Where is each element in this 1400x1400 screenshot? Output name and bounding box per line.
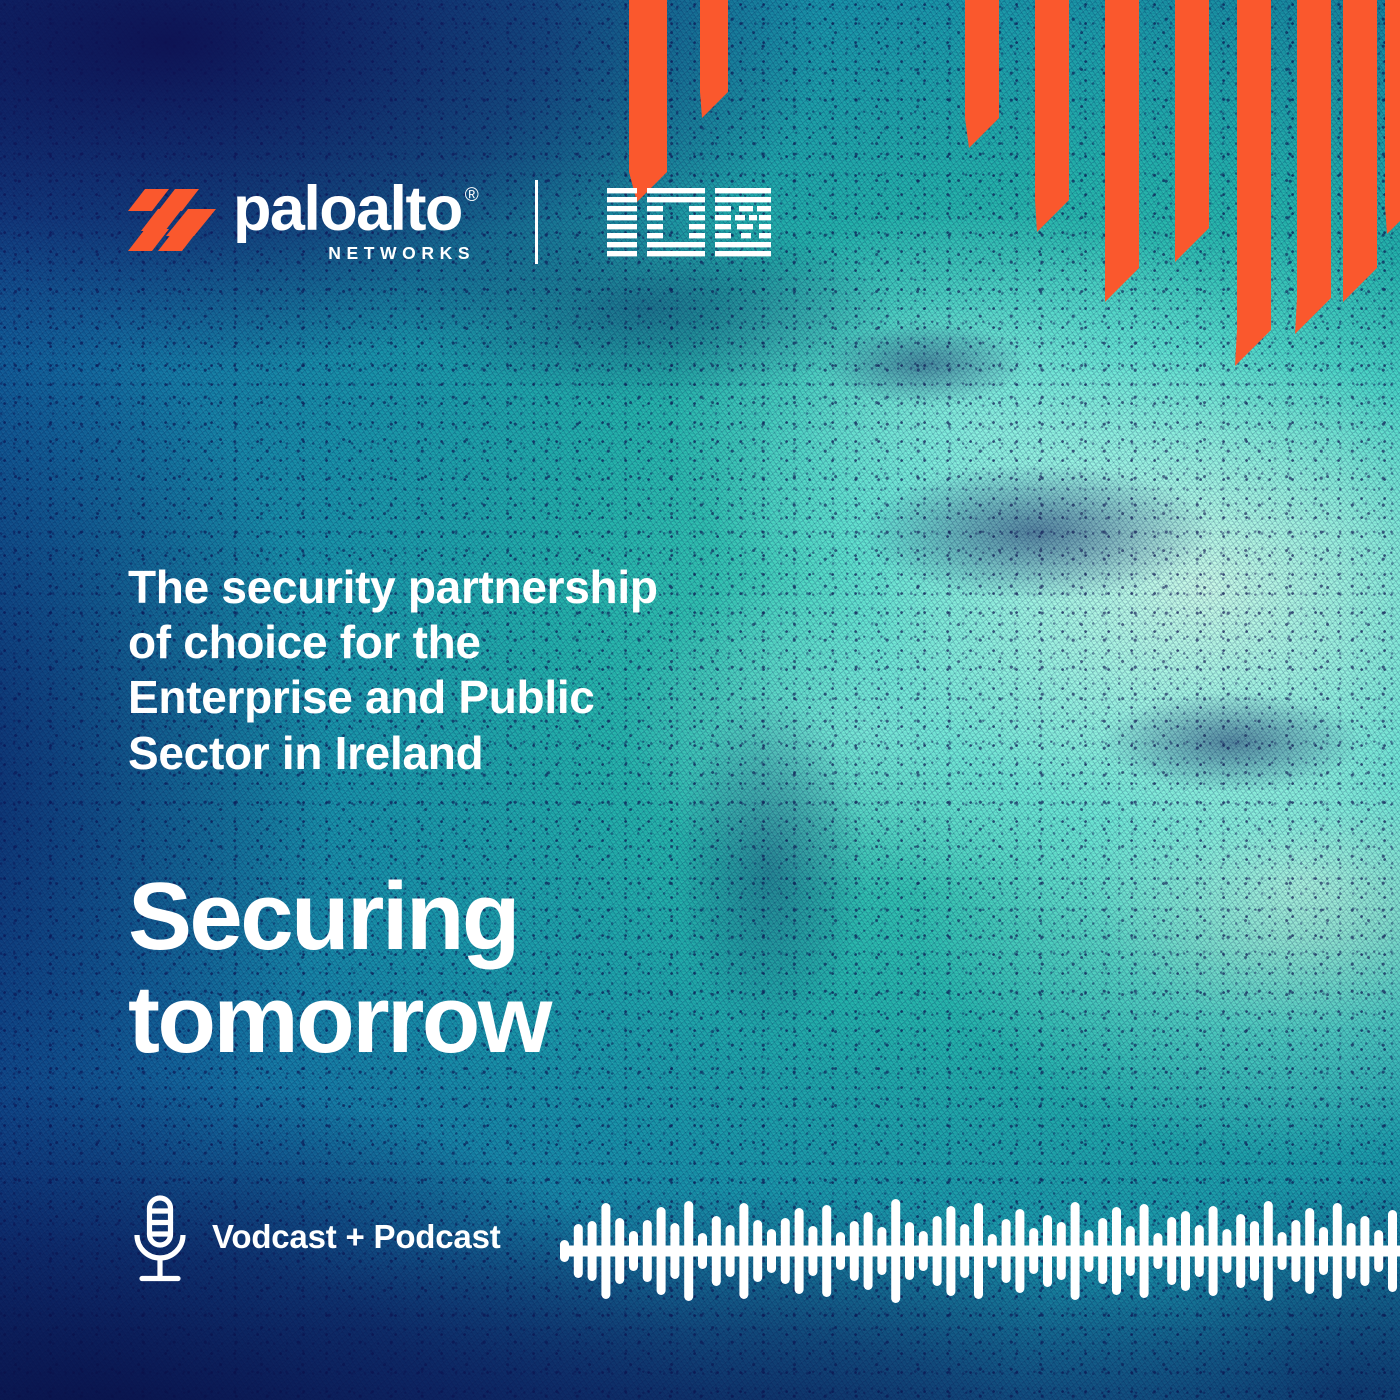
waveform-bar (726, 1225, 735, 1277)
waveform-bar (1112, 1207, 1121, 1295)
waveform-bar (657, 1207, 666, 1295)
subheadline-line-1: The security partnership (128, 560, 828, 615)
palo-alto-wordmark-group: paloalto ® NETWORKS (233, 180, 477, 263)
palo-alto-chevron-mark (128, 189, 216, 251)
ibm-logo (599, 186, 773, 258)
waveform-bar (753, 1220, 762, 1282)
waveform-bar (1071, 1202, 1080, 1300)
ibm-stripe (737, 224, 753, 229)
waveform-bar (1029, 1228, 1038, 1274)
ibm-stripe (715, 206, 731, 211)
waveform-bar (781, 1218, 790, 1284)
ibm-stripe (689, 233, 705, 238)
ibm-stripe (759, 215, 771, 220)
subheadline-line-2: of choice for the (128, 615, 828, 670)
logo-lockup: paloalto ® NETWORKS (128, 172, 773, 272)
waveform-bar (1153, 1233, 1162, 1269)
podcast-poster: paloalto ® NETWORKS The security partner… (0, 0, 1400, 1400)
waveform-bar (1126, 1226, 1135, 1276)
waveform-bar (643, 1220, 652, 1282)
waveform-bar (1291, 1220, 1300, 1282)
ibm-stripe (715, 233, 731, 238)
waveform-bar (960, 1224, 969, 1278)
angled-bar-5 (1105, 0, 1139, 302)
ibm-stripe (715, 224, 731, 229)
waveform-bar (933, 1216, 942, 1286)
ibm-stripe (715, 215, 731, 220)
ibm-stripe (715, 242, 771, 247)
ibm-stripe (757, 206, 771, 211)
waveform-bar (1374, 1230, 1383, 1272)
ibm-stripe (647, 251, 705, 256)
ibm-stripe (607, 206, 637, 211)
waveform-bar (1209, 1206, 1218, 1296)
waveform-bar (670, 1223, 679, 1279)
waveform-bar (1333, 1203, 1342, 1299)
angled-bar-10 (1385, 0, 1400, 234)
ibm-stripe (689, 224, 705, 229)
waveform-bar (822, 1205, 831, 1297)
waveform-bar (615, 1218, 624, 1284)
waveform-bar (1305, 1208, 1314, 1294)
microphone-icon-svg (129, 1194, 191, 1290)
waveform-bar (1347, 1223, 1356, 1279)
waveform-bar (1140, 1204, 1149, 1298)
waveform-bar (1250, 1221, 1259, 1281)
waveform-bar (739, 1203, 748, 1299)
audio-waveform-svg (560, 1192, 1400, 1310)
angled-bar-9 (1343, 0, 1377, 302)
ibm-stripe (647, 206, 663, 211)
waveform-bar (1002, 1219, 1011, 1283)
palo-alto-networks-logo: paloalto ® NETWORKS (128, 180, 477, 263)
angled-bar-7 (1235, 0, 1271, 366)
waveform-bar (560, 1240, 569, 1262)
ibm-stripe (647, 188, 705, 193)
waveform-bar (850, 1221, 859, 1281)
palo-alto-wordmark-text: paloalto (233, 180, 462, 239)
ibm-stripe (607, 233, 637, 238)
logo-divider (535, 180, 538, 264)
angled-bar-3 (965, 0, 999, 148)
ibm-stripe (715, 188, 771, 193)
ibm-stripe (647, 215, 663, 220)
page-title: Securing tomorrow (128, 866, 888, 1071)
waveform-bar (808, 1226, 817, 1276)
waveform-bar (1098, 1218, 1107, 1284)
subheadline-line-4: Sector in Ireland (128, 726, 828, 781)
waveform-bar (1195, 1225, 1204, 1277)
waveform-bar (1222, 1229, 1231, 1273)
waveform-bar (712, 1216, 721, 1286)
waveform-bar (601, 1203, 610, 1299)
waveform-bar (891, 1199, 900, 1303)
waveform-bar (1043, 1215, 1052, 1287)
microphone-icon (129, 1194, 191, 1290)
waveform-bar (1360, 1216, 1369, 1286)
waveform-bar (767, 1229, 776, 1273)
ibm-stripe (735, 215, 745, 220)
ibm-stripe (759, 233, 771, 238)
ibm-stripe (607, 197, 637, 202)
ibm-stripe (607, 215, 637, 220)
waveform-bar (1236, 1214, 1245, 1288)
waveform-bar (905, 1222, 914, 1280)
ibm-stripe (607, 251, 637, 256)
waveform-bar (1167, 1217, 1176, 1285)
ibm-stripe (759, 224, 771, 229)
angled-bar-4 (1035, 0, 1069, 232)
headline-line-2: tomorrow (128, 969, 888, 1072)
waveform-bar (1181, 1211, 1190, 1291)
ibm-stripe (715, 197, 771, 202)
waveform-bar (1388, 1210, 1397, 1292)
ibm-stripe (607, 242, 637, 247)
waveform-bar (836, 1232, 845, 1270)
waveform-bar (1264, 1201, 1273, 1301)
headline-line-1: Securing (128, 866, 888, 969)
ibm-stripe (647, 233, 663, 238)
ibm-stripe (715, 251, 771, 256)
waveform-bar (1278, 1232, 1287, 1270)
waveform-bar (684, 1201, 693, 1301)
subheadline: The security partnership of choice for t… (128, 560, 828, 781)
waveform-bar (919, 1231, 928, 1271)
waveform-bar (1015, 1209, 1024, 1293)
waveform-bar (1319, 1227, 1328, 1275)
waveform-bar (795, 1208, 804, 1294)
waveform-bar (974, 1203, 983, 1299)
registered-trademark-icon: ® (465, 186, 477, 205)
ibm-stripe (689, 215, 705, 220)
ibm-stripe (607, 188, 637, 193)
waveform-bar (698, 1233, 707, 1269)
ibm-stripe (689, 206, 705, 211)
palo-alto-wordmark: paloalto ® (233, 180, 477, 239)
waveform-bar (1084, 1230, 1093, 1272)
subheadline-line-3: Enterprise and Public (128, 670, 828, 725)
audio-waveform-icon (560, 1192, 1400, 1310)
footer-bar: Vodcast + Podcast (0, 1192, 1400, 1310)
ibm-stripe (607, 224, 637, 229)
waveform-bar (1057, 1222, 1066, 1280)
waveform-bar (629, 1231, 638, 1271)
waveform-bar (946, 1206, 955, 1296)
ibm-stripe (741, 233, 751, 238)
palo-alto-networks-subwordmark: NETWORKS (233, 243, 475, 264)
ibm-stripe (647, 242, 705, 247)
ibm-stripe (647, 224, 663, 229)
waveform-bar (988, 1234, 997, 1268)
waveform-bar (574, 1224, 583, 1278)
ibm-stripe (647, 197, 705, 202)
angled-bar-2 (700, 0, 728, 118)
waveform-bar (864, 1212, 873, 1290)
angled-bar-6 (1175, 0, 1209, 262)
ibm-stripe (749, 215, 757, 220)
angled-bar-8 (1295, 0, 1331, 334)
ibm-stripe (739, 206, 753, 211)
waveform-bar (877, 1227, 886, 1275)
format-label: Vodcast + Podcast (212, 1218, 501, 1256)
waveform-bar (588, 1221, 597, 1281)
